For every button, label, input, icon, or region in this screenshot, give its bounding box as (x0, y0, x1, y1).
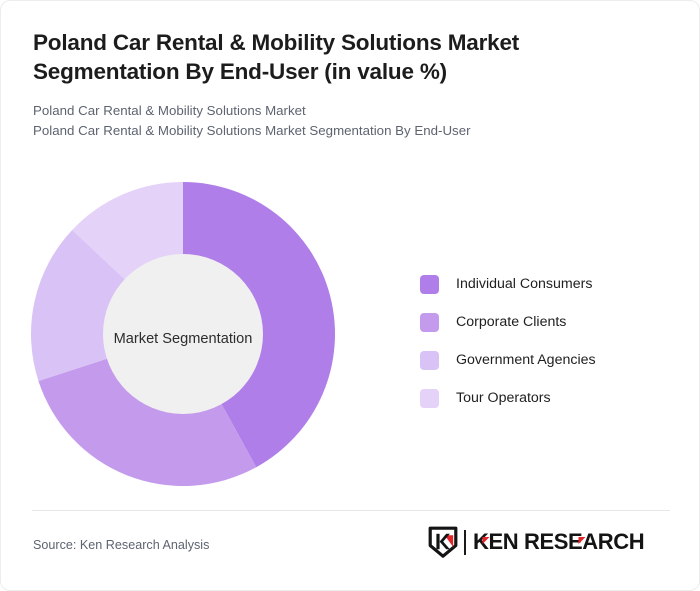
page-title: Poland Car Rental & Mobility Solutions M… (33, 29, 653, 87)
ken-research-wordmark: KEN RESEARCH (473, 529, 669, 555)
legend-item[interactable]: Tour Operators (420, 379, 670, 417)
chart-card: Poland Car Rental & Mobility Solutions M… (0, 0, 700, 591)
subtitle-block: Poland Car Rental & Mobility Solutions M… (33, 101, 653, 141)
legend-swatch (420, 351, 439, 370)
legend-item-label: Individual Consumers (456, 276, 592, 292)
breadcrumb-segmentation: Poland Car Rental & Mobility Solutions M… (33, 121, 653, 141)
legend-item-label: Corporate Clients (456, 314, 566, 330)
legend-swatch (420, 275, 439, 294)
legend-item[interactable]: Government Agencies (420, 341, 670, 379)
legend-item[interactable]: Individual Consumers (420, 265, 670, 303)
donut-svg: Market Segmentation (31, 169, 336, 489)
ken-research-shield-icon (428, 526, 458, 558)
chart-header: Poland Car Rental & Mobility Solutions M… (33, 29, 653, 141)
donut-center-label: Market Segmentation (114, 331, 253, 347)
source-note: Source: Ken Research Analysis (33, 538, 209, 552)
svg-text:KEN RESEARCH: KEN RESEARCH (473, 529, 644, 554)
brand-separator (464, 530, 466, 555)
chart-legend: Individual ConsumersCorporate ClientsGov… (420, 265, 670, 417)
legend-swatch (420, 389, 439, 408)
legend-item-label: Tour Operators (456, 390, 551, 406)
legend-item[interactable]: Corporate Clients (420, 303, 670, 341)
legend-swatch (420, 313, 439, 332)
brand-logo: KEN RESEARCH (428, 522, 669, 562)
breadcrumb-market: Poland Car Rental & Mobility Solutions M… (33, 101, 653, 121)
footer-divider (32, 510, 670, 511)
donut-chart: Market Segmentation (31, 169, 336, 489)
legend-item-label: Government Agencies (456, 352, 596, 368)
chart-area: Market Segmentation Individual Consumers… (1, 169, 700, 499)
